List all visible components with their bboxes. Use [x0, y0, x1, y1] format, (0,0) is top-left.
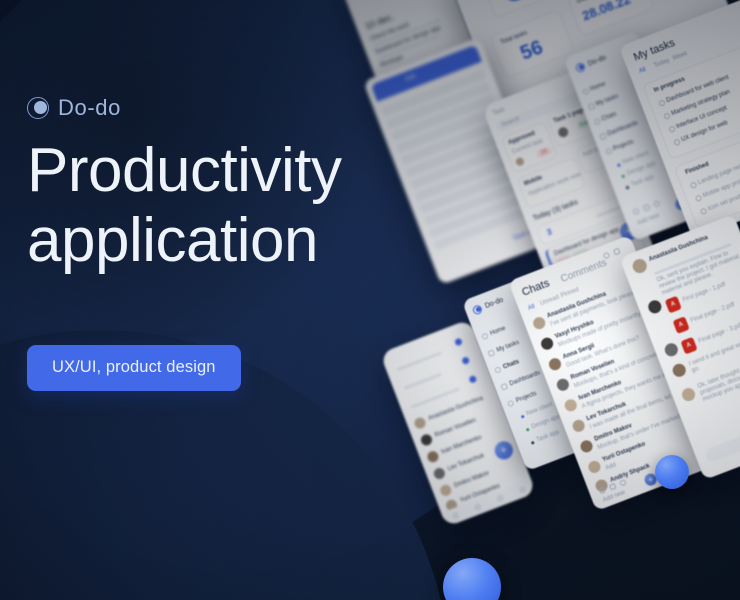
sidebar-sub-task-app[interactable]: Task app: [630, 174, 655, 188]
sidebar-sub-task-app[interactable]: Task app: [536, 429, 561, 443]
sidebar-item-dashboards[interactable]: Dashboards: [607, 120, 639, 137]
avatar: [426, 450, 440, 464]
avatar: [557, 126, 570, 139]
avatar: [555, 377, 571, 393]
avatar: [563, 398, 579, 414]
page-title: Productivity application: [27, 136, 407, 276]
checkbox-icon[interactable]: [673, 138, 681, 146]
sidebar-brand: Do-do: [472, 296, 505, 316]
chat-icon: [593, 118, 601, 126]
avatar: [515, 157, 525, 167]
attachment-name[interactable]: Final page - 3.pdf: [698, 322, 740, 344]
avatar: [680, 386, 697, 403]
chat-name[interactable]: Dmitro Makov: [453, 470, 490, 489]
circle-dot-logo-icon: [472, 304, 484, 316]
sidebar-item-projects[interactable]: Projects: [515, 391, 537, 404]
avatar: [439, 483, 453, 497]
chat-preview: Add: [605, 462, 617, 471]
section-title: Finished: [685, 162, 710, 176]
circle-dot-logo-icon: [27, 97, 49, 119]
new-chat-fab[interactable]: +: [492, 439, 515, 462]
tasks-icon: [488, 349, 496, 357]
doc-add-label[interactable]: Add: [404, 74, 416, 83]
stat-value: 28.08.22: [580, 0, 633, 24]
filter-pinned[interactable]: Pinned: [560, 287, 580, 299]
avatar: [663, 341, 680, 358]
search-icon: [603, 252, 611, 260]
brand-logo: Do-do: [27, 95, 121, 121]
dashboard-icon: [500, 383, 508, 391]
cta-button[interactable]: UX/UI, product design: [27, 345, 241, 391]
checkbox-icon[interactable]: [658, 99, 666, 107]
donut-chart-icon: [497, 0, 531, 5]
tab-comments[interactable]: Comments: [559, 257, 608, 285]
brand-name: Do-do: [58, 95, 121, 121]
chat-name[interactable]: Roman Voselien: [434, 418, 477, 439]
my-tasks-title: My tasks: [632, 37, 677, 64]
sidebar-sub-design-app[interactable]: Design app: [531, 414, 561, 430]
sidebar-item-dashboards[interactable]: Dashboards: [509, 370, 541, 387]
sidebar-item-my-tasks[interactable]: My tasks: [496, 340, 520, 354]
tab-all[interactable]: All: [638, 67, 646, 75]
sidebar-brand: Do-do: [575, 53, 608, 73]
filter-unread[interactable]: Unread: [540, 295, 561, 308]
avatar: [531, 315, 547, 331]
card-chip: 2/5: [535, 146, 553, 159]
sidebar-sub-new-client[interactable]: New client: [526, 402, 554, 418]
projects-icon: [605, 148, 613, 156]
pdf-file-icon[interactable]: A: [665, 296, 682, 314]
checkbox-icon[interactable]: [668, 125, 676, 133]
headline-line-1: Productivity: [27, 136, 407, 206]
filter-all[interactable]: All: [527, 304, 535, 312]
decorative-sphere-right: [655, 455, 689, 489]
chats-toolbar[interactable]: [603, 248, 621, 260]
card-title: Mobile: [523, 175, 543, 187]
stat-card-deadline: Deadline 28.08.22: [566, 0, 655, 37]
attachment-name[interactable]: Final page - 2.pdf: [690, 302, 736, 324]
home-icon: [582, 88, 590, 96]
sidebar-item-projects[interactable]: Projects: [612, 139, 634, 152]
pdf-file-icon[interactable]: A: [680, 337, 697, 355]
home-icon: [481, 332, 489, 340]
avatar: [432, 466, 446, 480]
stat-value: 56: [517, 36, 546, 65]
message-input[interactable]: [704, 414, 740, 463]
stat-card-total-tasks: Total tasks 56: [489, 9, 575, 78]
sidebar-item-my-tasks[interactable]: My tasks: [595, 94, 619, 108]
pdf-file-icon[interactable]: A: [673, 316, 690, 334]
dashboard-icon: [599, 133, 607, 141]
sidebar-item-chats[interactable]: Chats: [502, 359, 520, 371]
phone-tasks-title: Task: [492, 107, 506, 117]
avatar: [413, 416, 427, 430]
sidebar-brand-label: Do-do: [587, 54, 607, 67]
avatar: [547, 356, 563, 372]
search-icon: [619, 479, 627, 487]
promo-banner: 10 dec. Cheсk the work Dashboard for des…: [0, 0, 740, 600]
card-meta: Application work now: [527, 172, 582, 198]
avatar: [631, 257, 649, 275]
sidebar-item-chats[interactable]: Chats: [601, 111, 618, 122]
sidebar-brand-label: Do-do: [484, 297, 504, 310]
projects-icon: [507, 400, 515, 408]
circle-dot-logo-icon: [575, 62, 587, 74]
tab-today[interactable]: Today: [653, 58, 670, 69]
avatar: [646, 298, 663, 315]
sidebar-add-new-label[interactable]: Add new: [637, 213, 661, 227]
avatar: [587, 459, 603, 475]
checkbox-icon[interactable]: [695, 194, 703, 202]
filter-icon: [613, 248, 621, 256]
mockup-deck: 10 dec. Cheсk the work Dashboard for des…: [0, 0, 740, 600]
chat-icon: [494, 366, 502, 374]
avatar: [539, 336, 555, 352]
sidebar-item-home[interactable]: Home: [589, 81, 606, 92]
tasks-icon: [588, 103, 596, 111]
sidebar-item-home[interactable]: Home: [489, 326, 506, 337]
tab-week[interactable]: Week: [672, 51, 688, 62]
avatar: [571, 418, 587, 434]
avatar: [671, 362, 688, 379]
thread-title: Anastasiia Gushchina: [648, 235, 709, 263]
tab-chats[interactable]: Chats: [520, 277, 551, 299]
checkbox-icon[interactable]: [700, 207, 708, 215]
chat-name[interactable]: Ivan Marchenko: [441, 435, 483, 456]
avatar: [579, 439, 595, 455]
headline-line-2: application: [27, 206, 407, 276]
avatar: [419, 433, 433, 447]
chat-name[interactable]: Lev Tokarchuk: [447, 453, 485, 472]
chat-name[interactable]: Anastasiia Gushchina: [428, 396, 484, 422]
checkbox-icon[interactable]: [663, 112, 671, 120]
checkbox-icon[interactable]: [690, 181, 698, 189]
